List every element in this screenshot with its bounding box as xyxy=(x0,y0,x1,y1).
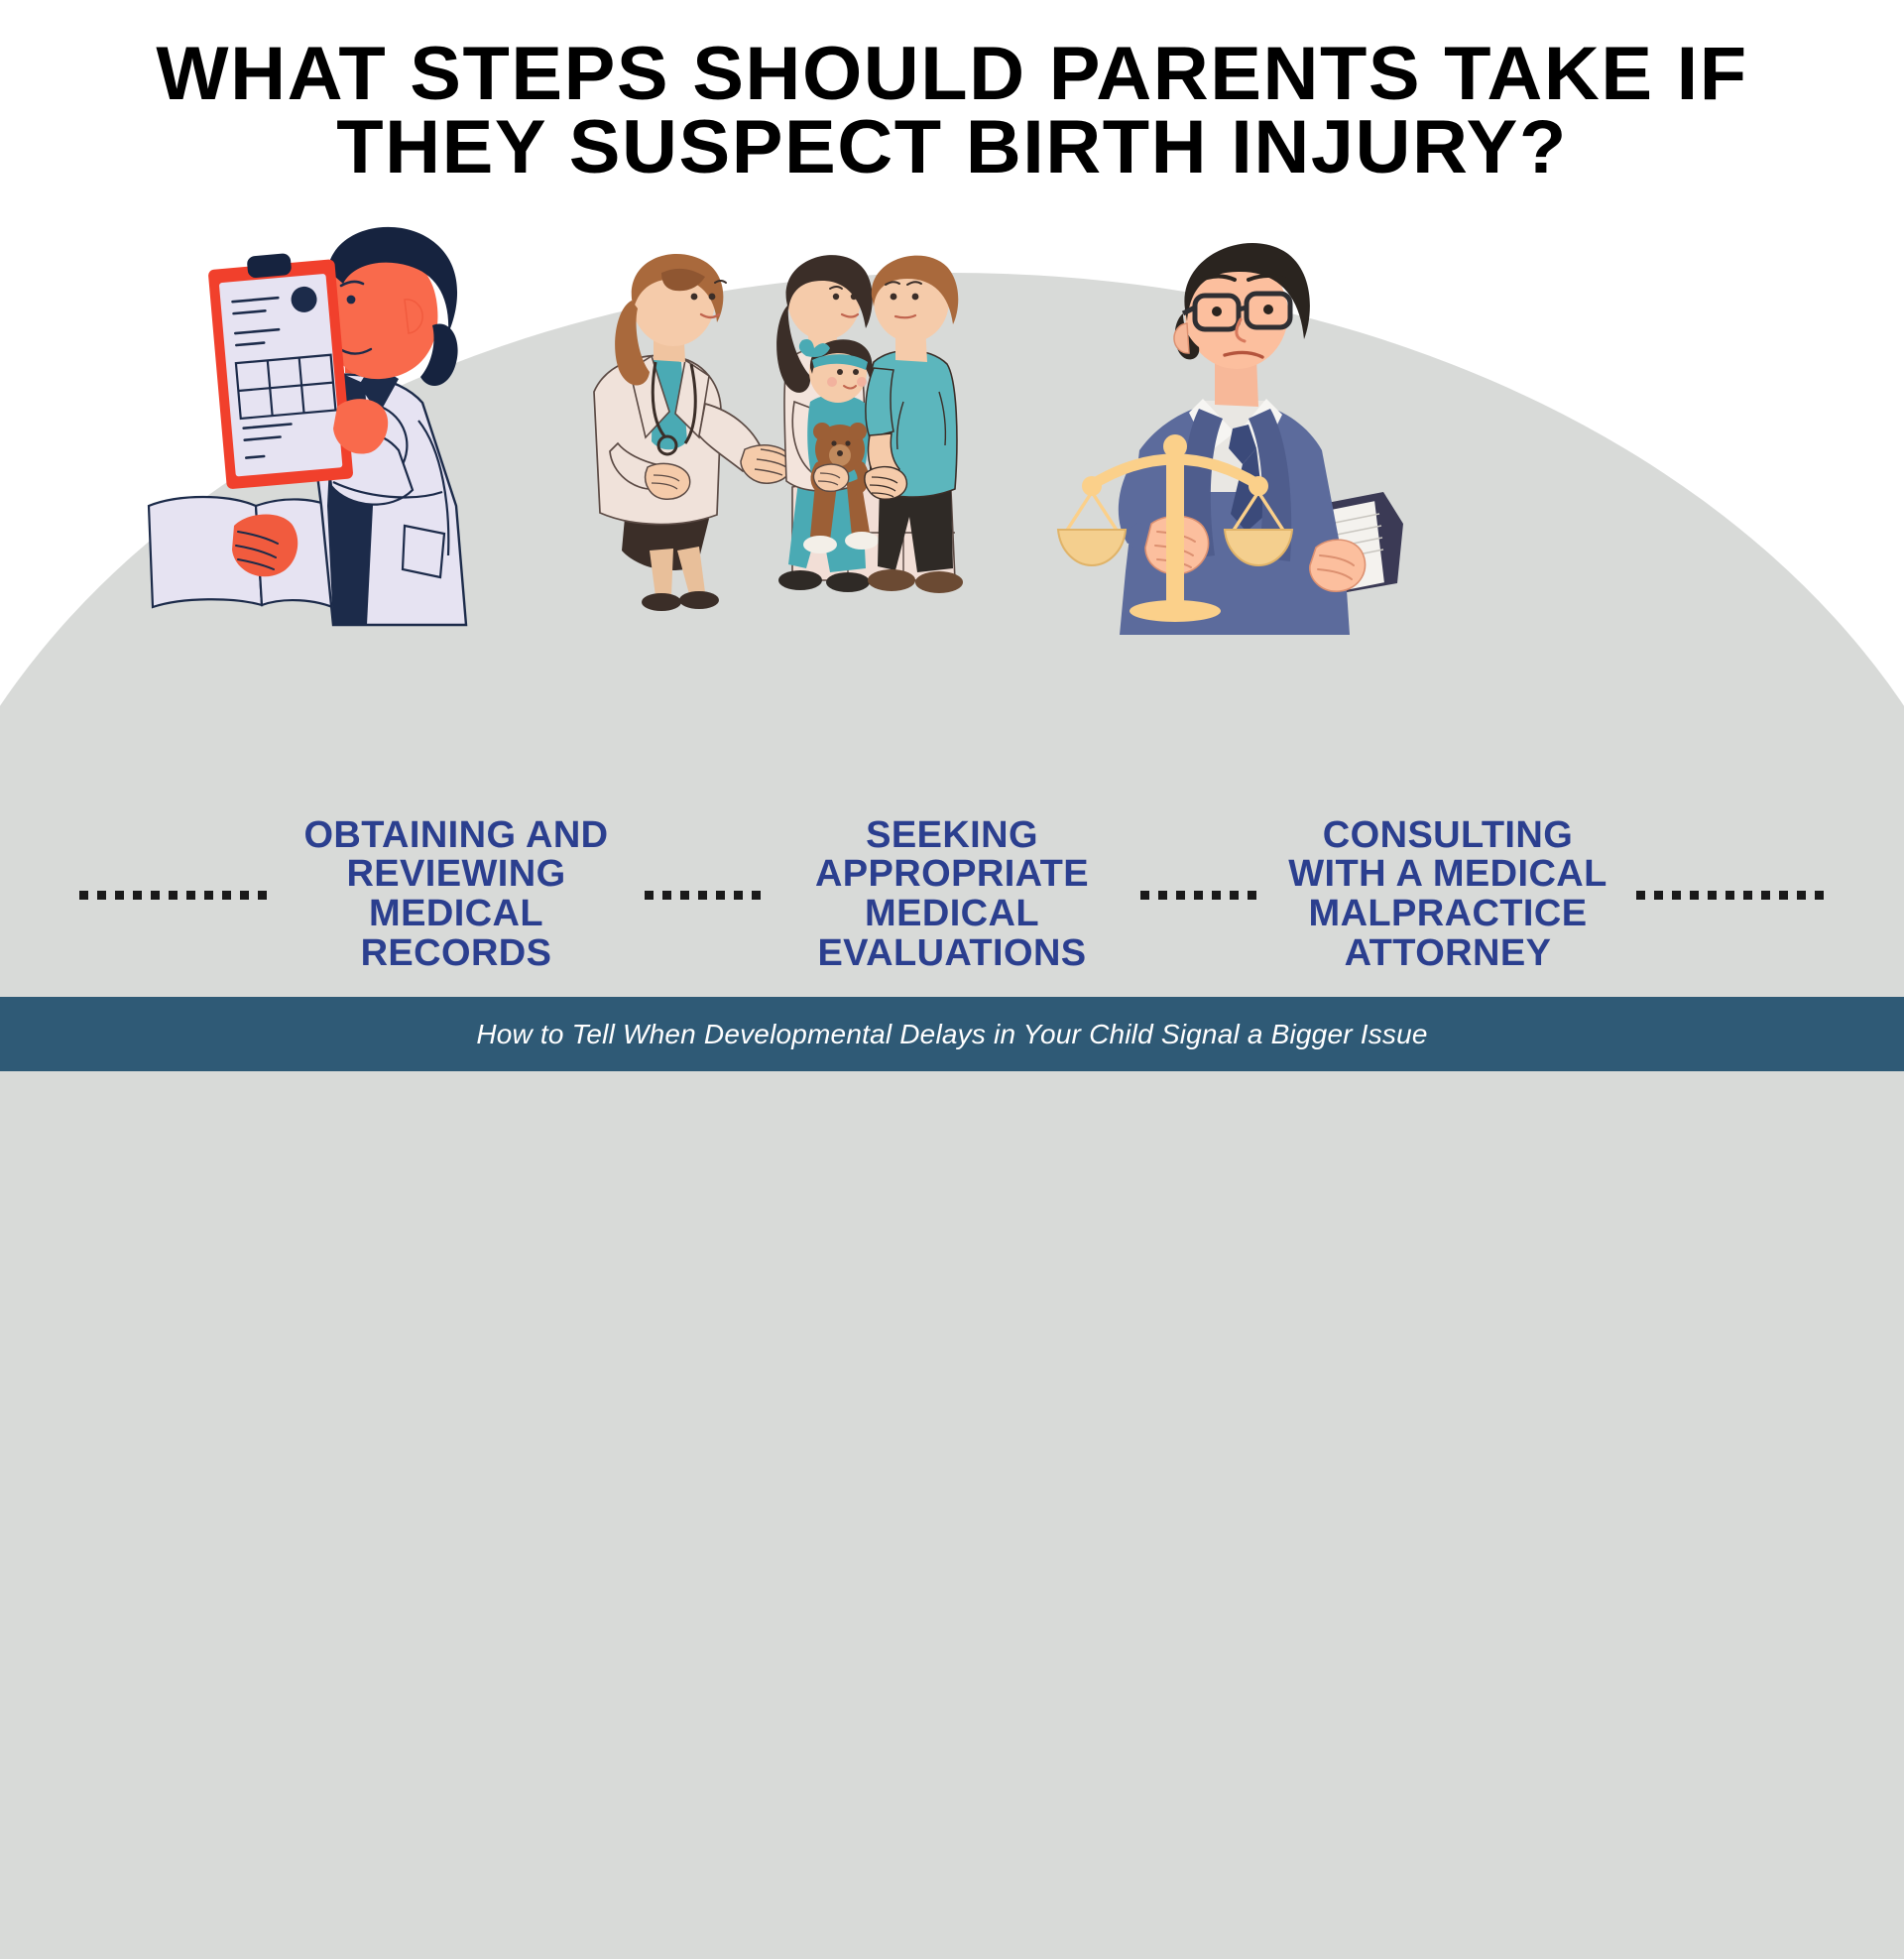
dotted-connector-left xyxy=(79,891,268,900)
attorney-with-scales-illustration xyxy=(1056,238,1433,635)
step-label-medical-evaluations: SEEKING APPROPRIATE MEDICAL EVALUATIONS xyxy=(764,816,1140,973)
step-label-malpractice-attorney: CONSULTING WITH A MEDICAL MALPRACTICE AT… xyxy=(1259,816,1636,973)
step-label-obtaining-records: OBTAINING AND REVIEWING MEDICAL RECORDS xyxy=(268,816,645,973)
steps-row: OBTAINING AND REVIEWING MEDICAL RECORDS … xyxy=(0,796,1904,994)
bottom-banner: How to Tell When Developmental Delays in… xyxy=(0,997,1904,1071)
dotted-connector-1 xyxy=(645,891,764,900)
banner-caption: How to Tell When Developmental Delays in… xyxy=(476,1019,1427,1050)
doctor-consulting-family-illustration xyxy=(550,253,1016,640)
doctor-reviewing-records-illustration xyxy=(139,208,535,635)
dotted-connector-right xyxy=(1636,891,1825,900)
dotted-connector-2 xyxy=(1140,891,1259,900)
